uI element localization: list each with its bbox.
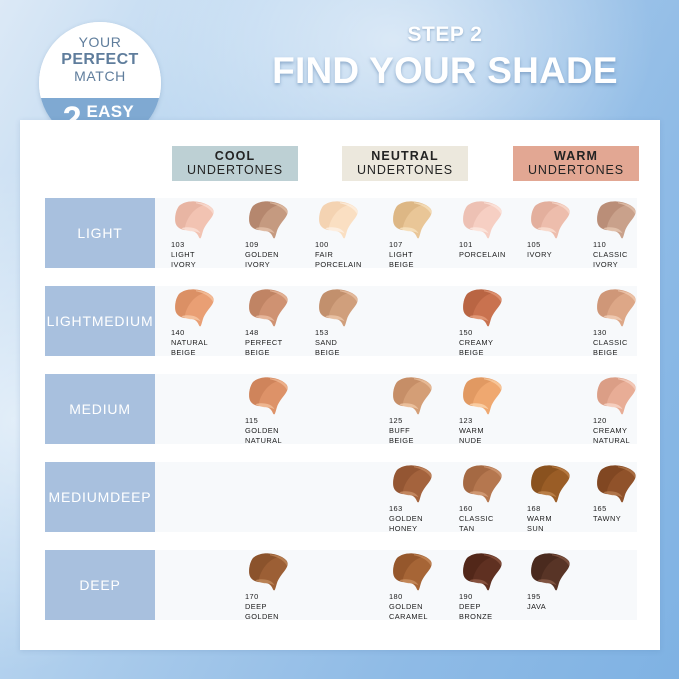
shade-name-line: NATURAL [593,436,673,446]
swatch-smear-icon [528,200,574,240]
shade-swatch-101[interactable]: 101PORCELAIN [456,198,526,268]
shade-name-line: NATURAL [171,338,251,348]
foundation-smear-shape [460,376,506,416]
swatch-smear-icon [594,376,640,416]
foundation-smear-shape [172,200,218,240]
shade-caption: 195JAVA [527,592,607,612]
title-block: STEP 2 FIND YOUR SHADE [230,24,660,89]
shade-name-line: BEIGE [315,348,395,358]
row-label-medium[interactable]: MEDIUM [45,374,155,444]
shade-name-line: NATURAL [245,436,325,446]
shade-swatch-160[interactable]: 160CLASSICTAN [456,462,526,532]
badge-word-easy: EASY [87,103,138,120]
row-label-line: MEDIUM [92,313,154,330]
row-label-line: LIGHT [47,313,92,330]
row-label-medium-deep[interactable]: MEDIUMDEEP [45,462,155,532]
swatch-smear-icon [172,288,218,328]
shade-number: 115 [245,416,325,426]
foundation-smear-shape [390,552,436,592]
shade-swatch-190[interactable]: 190DEEPBRONZE [456,550,526,620]
shade-row: DEEP170DEEPGOLDEN180GOLDENCARAMEL190DEEP… [20,550,660,620]
shade-number: 150 [459,328,539,338]
shade-caption: 170DEEPGOLDEN [245,592,325,622]
swatch-smear-icon [460,464,506,504]
shade-swatch-168[interactable]: 168WARMSUN [524,462,594,532]
shade-caption: 103LIGHTIVORY [171,240,251,270]
header-banner: YOUR PERFECT MATCH 2 EASY STEPS STEP 2 F… [0,0,679,125]
step-label: STEP 2 [230,24,660,45]
foundation-smear-shape [390,376,436,416]
shade-name-line: BEIGE [459,348,539,358]
shade-row: MEDIUM115GOLDENNATURAL125BUFFBEIGE123WAR… [20,374,660,444]
shade-caption: 150CREAMYBEIGE [459,328,539,358]
shade-name-line: PORCELAIN [315,260,395,270]
shade-swatch-120[interactable]: 120CREAMYNATURAL [590,374,660,444]
badge-line-match: MATCH [74,69,126,85]
shade-number: 120 [593,416,673,426]
undertone-warm-sublabel: UNDERTONES [528,164,624,178]
shade-swatch-163[interactable]: 163GOLDENHONEY [386,462,456,532]
swatch-smear-icon [460,200,506,240]
foundation-smear-shape [172,288,218,328]
foundation-smear-shape [528,464,574,504]
shade-name-line: CLASSIC [593,250,673,260]
shade-swatch-123[interactable]: 123WARMNUDE [456,374,526,444]
shade-swatch-110[interactable]: 110CLASSICIVORY [590,198,660,268]
undertone-header-neutral: NEUTRAL UNDERTONES [342,146,468,181]
row-label-line: LIGHT [77,225,122,242]
foundation-smear-shape [528,552,574,592]
shade-row: LIGHT103LIGHTIVORY109GOLDENIVORY100FAIRP… [20,198,660,268]
foundation-smear-shape [316,200,362,240]
shade-swatch-153[interactable]: 153SANDBEIGE [312,286,382,356]
shade-swatch-150[interactable]: 150CREAMYBEIGE [456,286,526,356]
shade-caption: 130CLASSICBEIGE [593,328,673,358]
foundation-smear-shape [390,464,436,504]
shade-number: 165 [593,504,673,514]
shade-number: 170 [245,592,325,602]
foundation-smear-shape [460,464,506,504]
shade-swatch-195[interactable]: 195JAVA [524,550,594,620]
swatch-smear-icon [316,288,362,328]
shade-swatch-148[interactable]: 148PERFECTBEIGE [242,286,312,356]
swatch-smear-icon [246,288,292,328]
swatch-smear-icon [528,552,574,592]
shade-name-line: GOLDEN [245,426,325,436]
foundation-smear-shape [594,376,640,416]
page-title: FIND YOUR SHADE [230,52,660,89]
swatch-smear-icon [460,376,506,416]
shade-name-line: IVORY [593,260,673,270]
foundation-smear-shape [246,200,292,240]
shade-swatch-180[interactable]: 180GOLDENCARAMEL [386,550,456,620]
shade-name-line: WARM [459,426,539,436]
badge-top-half: YOUR PERFECT MATCH [39,22,161,98]
shade-swatch-165[interactable]: 165TAWNY [590,462,660,532]
shade-swatch-140[interactable]: 140NATURALBEIGE [168,286,238,356]
swatch-smear-icon [390,464,436,504]
shade-name-line: LIGHT [171,250,251,260]
shade-swatch-125[interactable]: 125BUFFBEIGE [386,374,456,444]
shade-row: LIGHTMEDIUM140NATURALBEIGE148PERFECTBEIG… [20,286,660,356]
shade-caption: 100FAIRPORCELAIN [315,240,395,270]
shade-caption: 110CLASSICIVORY [593,240,673,270]
shade-number: 110 [593,240,673,250]
shade-swatch-115[interactable]: 115GOLDENNATURAL [242,374,312,444]
swatch-smear-icon [460,288,506,328]
row-label-line: MEDIUM [69,401,131,418]
shade-name-line: IVORY [171,260,251,270]
shade-number: 103 [171,240,251,250]
row-label-deep[interactable]: DEEP [45,550,155,620]
badge-line-your: YOUR [79,35,122,51]
foundation-smear-shape [460,200,506,240]
shade-name-line: BEIGE [171,348,251,358]
row-label-line: DEEP [110,489,151,506]
swatch-smear-icon [594,200,640,240]
shade-name-line: DEEP [245,602,325,612]
shade-name-line: SAND [315,338,395,348]
shade-name-line: CREAMY [593,426,673,436]
foundation-smear-shape [460,288,506,328]
badge-line-perfect: PERFECT [61,51,138,69]
row-label-light[interactable]: LIGHT [45,198,155,268]
row-label-light-medium[interactable]: LIGHTMEDIUM [45,286,155,356]
foundation-smear-shape [246,288,292,328]
undertone-neutral-label: NEUTRAL [371,150,438,164]
swatch-smear-icon [246,376,292,416]
shade-name-line: JAVA [527,602,607,612]
shade-number: 130 [593,328,673,338]
undertone-header-cool: COOL UNDERTONES [172,146,298,181]
undertone-neutral-sublabel: UNDERTONES [357,164,453,178]
swatch-smear-icon [528,464,574,504]
shade-caption: 165TAWNY [593,504,673,524]
swatch-smear-icon [460,552,506,592]
undertone-header-warm: WARM UNDERTONES [513,146,639,181]
shade-row: MEDIUMDEEP163GOLDENHONEY160CLASSICTAN168… [20,462,660,532]
shade-swatch-105[interactable]: 105IVORY [524,198,594,268]
swatch-smear-icon [246,200,292,240]
shade-name-line: NUDE [459,436,539,446]
shade-number: 100 [315,240,395,250]
undertone-cool-sublabel: UNDERTONES [187,164,283,178]
shade-name-line: GOLDEN [245,612,325,622]
shade-name-line: CLASSIC [593,338,673,348]
row-label-line: DEEP [79,577,120,594]
foundation-smear-shape [460,552,506,592]
shade-swatch-107[interactable]: 107LIGHTBEIGE [386,198,456,268]
shade-swatch-100[interactable]: 100FAIRPORCELAIN [312,198,382,268]
shade-name-line: CREAMY [459,338,539,348]
shade-caption: 123WARMNUDE [459,416,539,446]
shade-swatch-109[interactable]: 109GOLDENIVORY [242,198,312,268]
shade-swatch-103[interactable]: 103LIGHTIVORY [168,198,238,268]
swatch-smear-icon [390,552,436,592]
undertone-warm-label: WARM [554,150,598,164]
foundation-smear-shape [528,200,574,240]
foundation-smear-shape [246,376,292,416]
foundation-smear-shape [390,200,436,240]
foundation-smear-shape [316,288,362,328]
shade-name-line: BEIGE [593,348,673,358]
shade-finder-card: COOL UNDERTONES NEUTRAL UNDERTONES WARM … [20,120,660,650]
shade-number: 153 [315,328,395,338]
shade-swatch-170[interactable]: 170DEEPGOLDEN [242,550,312,620]
swatch-smear-icon [316,200,362,240]
undertone-cool-label: COOL [215,150,256,164]
shade-caption: 153SANDBEIGE [315,328,395,358]
shade-caption: 120CREAMYNATURAL [593,416,673,446]
swatch-smear-icon [390,376,436,416]
shade-name-line: FAIR [315,250,395,260]
foundation-smear-shape [594,288,640,328]
foundation-smear-shape [594,464,640,504]
shade-swatch-130[interactable]: 130CLASSICBEIGE [590,286,660,356]
shade-caption: 115GOLDENNATURAL [245,416,325,446]
row-label-line: MEDIUM [49,489,111,506]
swatch-smear-icon [594,464,640,504]
foundation-smear-shape [594,200,640,240]
shade-caption: 140NATURALBEIGE [171,328,251,358]
swatch-smear-icon [172,200,218,240]
foundation-smear-shape [246,552,292,592]
shade-number: 195 [527,592,607,602]
shade-number: 140 [171,328,251,338]
swatch-smear-icon [594,288,640,328]
shade-name-line: TAWNY [593,514,673,524]
swatch-smear-icon [390,200,436,240]
swatch-smear-icon [246,552,292,592]
shade-number: 123 [459,416,539,426]
